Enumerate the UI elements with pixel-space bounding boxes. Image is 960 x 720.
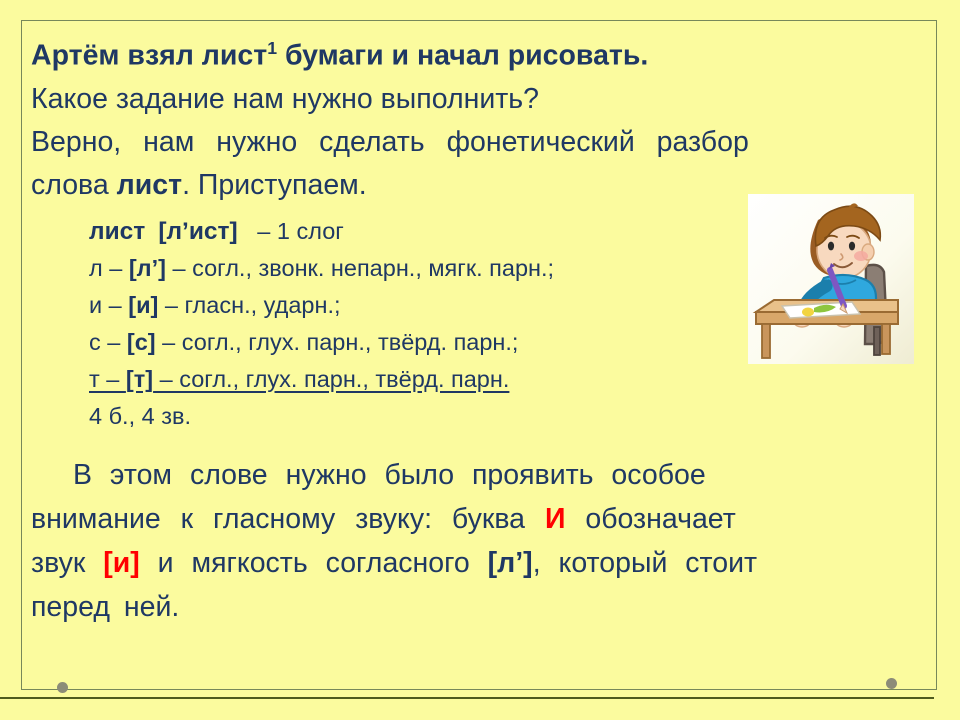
intro-line-4-suffix: . Приступаем. (182, 169, 367, 201)
closing-line-3-a: звук (31, 547, 103, 579)
sound-l-soft: [л’] (488, 547, 533, 579)
decorative-dot-right (886, 678, 897, 689)
content-frame: Артём взял лист1 бумаги и начал рисовать… (21, 20, 937, 690)
decorative-dot-left (57, 682, 68, 693)
analysis-row-2-sound: [с] (127, 329, 156, 355)
analysis-row-3-description: – согл., глух. парн., твёрд. парн. (153, 366, 509, 392)
closing-line-2-a: внимание к гласному звуку: буква (31, 503, 545, 535)
boy-drawing-svg (748, 194, 914, 364)
analysis-transcription: [л’ист] (158, 218, 237, 245)
intro-line-1-tail: бумаги и начал рисовать. (277, 40, 648, 72)
analysis-row-0-description: – согл., звонк. непарн., мягк. парн.; (166, 255, 554, 281)
boy-drawing-at-desk-illustration (748, 194, 914, 364)
analysis-totals: 4 б., 4 зв. (89, 398, 929, 435)
intro-line-2: Какое задание нам нужно выполнить? (31, 78, 929, 121)
intro-line-1: Артём взял лист1 бумаги и начал рисовать… (31, 27, 929, 78)
closing-line-4: перед ней. (31, 585, 929, 629)
intro-line-1-text: Артём взял лист (31, 40, 267, 72)
closing-line-3-c: , который стоит (533, 547, 757, 579)
analysis-row-1-sound: [и] (128, 292, 158, 318)
closing-line-2-b: обозначает (565, 503, 735, 535)
bottom-rule (0, 697, 934, 699)
analysis-syllable-count: – 1 слог (257, 218, 344, 244)
analysis-row-3-sound: [т] (126, 366, 153, 392)
closing-line-3-b: и мягкость согласного (140, 547, 488, 579)
closing-line-1: В этом слове нужно было проявить особое (31, 453, 929, 497)
analysis-row-3: т – [т] – согл., глух. парн., твёрд. пар… (89, 361, 929, 398)
analysis-word: лист (89, 218, 145, 245)
intro-line-3: Верно, нам нужно сделать фонетический ра… (31, 121, 929, 164)
analysis-word-inline: лист (117, 169, 182, 201)
analysis-row-2-description: – согл., глух. парн., твёрд. парн.; (156, 329, 519, 355)
highlighted-letter-i: И (545, 503, 565, 535)
analysis-row-0-letter: л – (89, 255, 129, 281)
highlighted-sound-i: [и] (103, 547, 140, 579)
closing-line-3: звук [и] и мягкость согласного [л’], кот… (31, 541, 929, 585)
analysis-row-1-description: – гласн., ударн.; (158, 292, 340, 318)
closing-paragraph: В этом слове нужно было проявить особое … (31, 453, 929, 629)
footnote-marker: 1 (267, 38, 277, 58)
analysis-row-3-letter: т – (89, 366, 126, 392)
analysis-row-2-letter: с – (89, 329, 127, 355)
slide-canvas: Артём взял лист1 бумаги и начал рисовать… (0, 0, 960, 720)
analysis-row-1-letter: и – (89, 292, 128, 318)
closing-line-2: внимание к гласному звуку: буква И обозн… (31, 497, 929, 541)
intro-line-4-prefix: слова (31, 169, 117, 201)
analysis-row-0-sound: [л’] (129, 255, 166, 281)
